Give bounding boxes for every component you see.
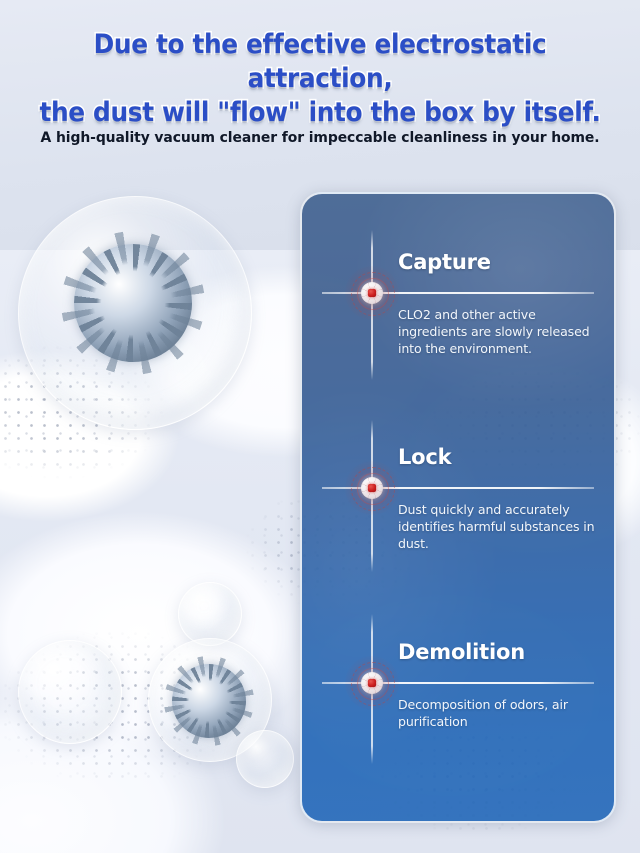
feature-card: Capture CLO2 and other active ingredient… (300, 192, 616, 823)
virus-particle-bottom (172, 664, 246, 738)
product-infographic: Due to the effective electrostatic attra… (0, 0, 640, 853)
feature-title: Demolition (398, 640, 525, 664)
marker-core (368, 679, 376, 687)
feature-description: CLO2 and other active ingredients are sl… (398, 306, 603, 357)
virus-particle-top (74, 244, 192, 362)
headline: Due to the effective electrostatic attra… (26, 28, 615, 130)
bubble-small-upper (178, 582, 242, 646)
subheadline: A high-quality vacuum cleaner for impecc… (13, 130, 627, 146)
feature-description: Dust quickly and accurately identifies h… (398, 501, 603, 552)
marker-core (368, 484, 376, 492)
feature-title: Capture (398, 250, 491, 274)
marker-core (368, 289, 376, 297)
bubble-small-left (18, 640, 122, 744)
feature-description: Decomposition of odors, air purification (398, 696, 603, 730)
feature-title: Lock (398, 445, 451, 469)
bubble-edge-right (236, 730, 294, 788)
